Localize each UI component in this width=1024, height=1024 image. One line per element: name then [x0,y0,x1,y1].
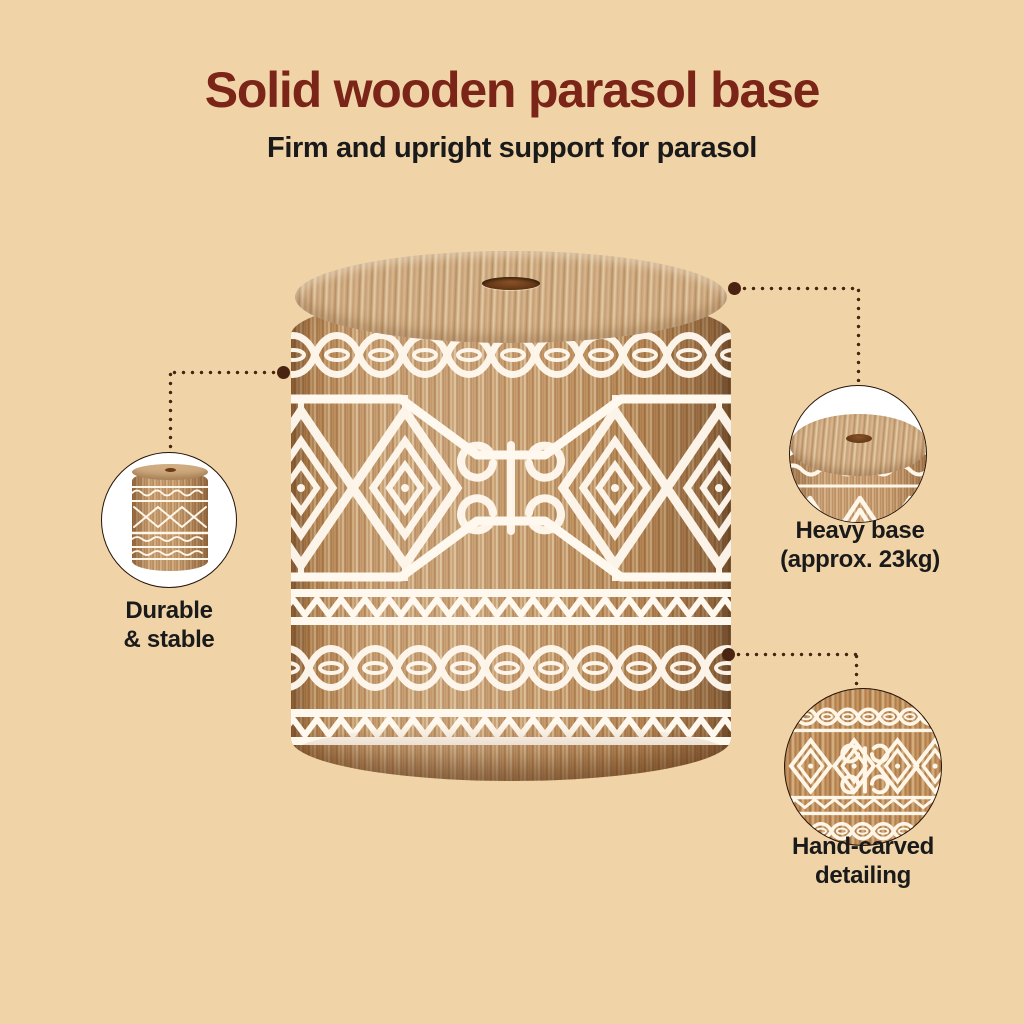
mini-pole-hole-heavy [846,434,872,443]
band-zigzag-lower [291,705,731,749]
band-diamond-maze [291,393,731,583]
infographic-canvas: Solid wooden parasol base Firm and uprig… [0,0,1024,1024]
callout-label-carved: Hand-carved detailing [756,832,970,891]
band-zigzag-upper [291,585,731,629]
product-top-face [295,251,727,343]
callout-thumbnail-heavy [789,385,927,523]
product-image [291,251,731,811]
callout-thumbnail-carved [784,688,942,846]
page-subtitle: Firm and upright support for parasol [0,132,1024,165]
connector-line-h-durable [170,370,280,375]
connector-line-h-carved [734,652,858,657]
page-title: Solid wooden parasol base [0,62,1024,118]
mini-pole-hole-durable [165,468,176,472]
band-infinity-lower [291,631,731,705]
callout-label-heavy: Heavy base (approx. 23kg) [760,516,960,575]
product-cylinder-body [291,293,731,781]
parasol-pole-hole [482,277,540,290]
header: Solid wooden parasol base Firm and uprig… [0,62,1024,165]
callout-label-durable: Durable & stable [61,596,277,655]
product-bottom-rim [291,723,731,781]
callout-thumbnail-durable [101,452,237,588]
connector-line-v-heavy [856,286,861,382]
connector-line-h-heavy [740,286,860,291]
